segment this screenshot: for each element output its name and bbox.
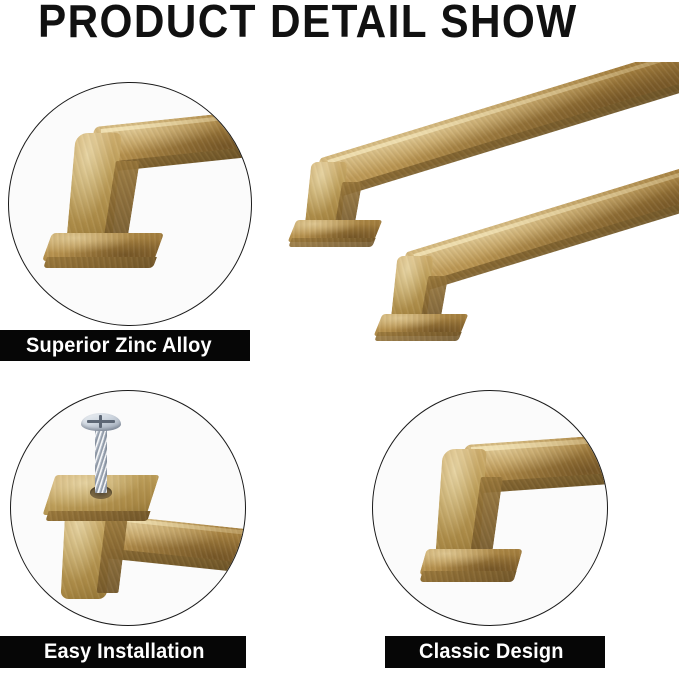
caption-label-easy-installation: Easy Installation [44,640,205,664]
caption-label-zinc-alloy: Superior Zinc Alloy [26,334,212,358]
screw-phillips-slot-horizontal [87,420,115,423]
classic-design-photo [373,391,607,625]
zinc-foot-edge [43,257,157,268]
easy-installation-photo [11,391,245,625]
caption-label-classic-design: Classic Design [419,640,564,664]
caption-bar-easy-installation: Easy Installation [0,636,246,668]
easy-mount-plate-edge [45,511,150,521]
hero-product-photo [282,62,679,362]
detail-circle-classic-design [372,390,608,626]
screw-shaft [95,425,107,493]
page-title: PRODUCT DETAIL SHOW [38,0,578,44]
classic-foot-edge [419,571,516,582]
hero-pull-upper-foot-edge [288,238,376,247]
caption-bar-zinc-alloy: Superior Zinc Alloy [0,330,250,361]
caption-bar-classic-design: Classic Design [385,636,605,668]
product-detail-infographic: PRODUCT DETAIL SHOW [0,0,679,675]
zinc-alloy-photo [9,83,251,325]
hero-pull-lower-foot-edge [374,332,462,341]
detail-circle-easy-installation [10,390,246,626]
detail-circle-zinc-alloy [8,82,252,326]
